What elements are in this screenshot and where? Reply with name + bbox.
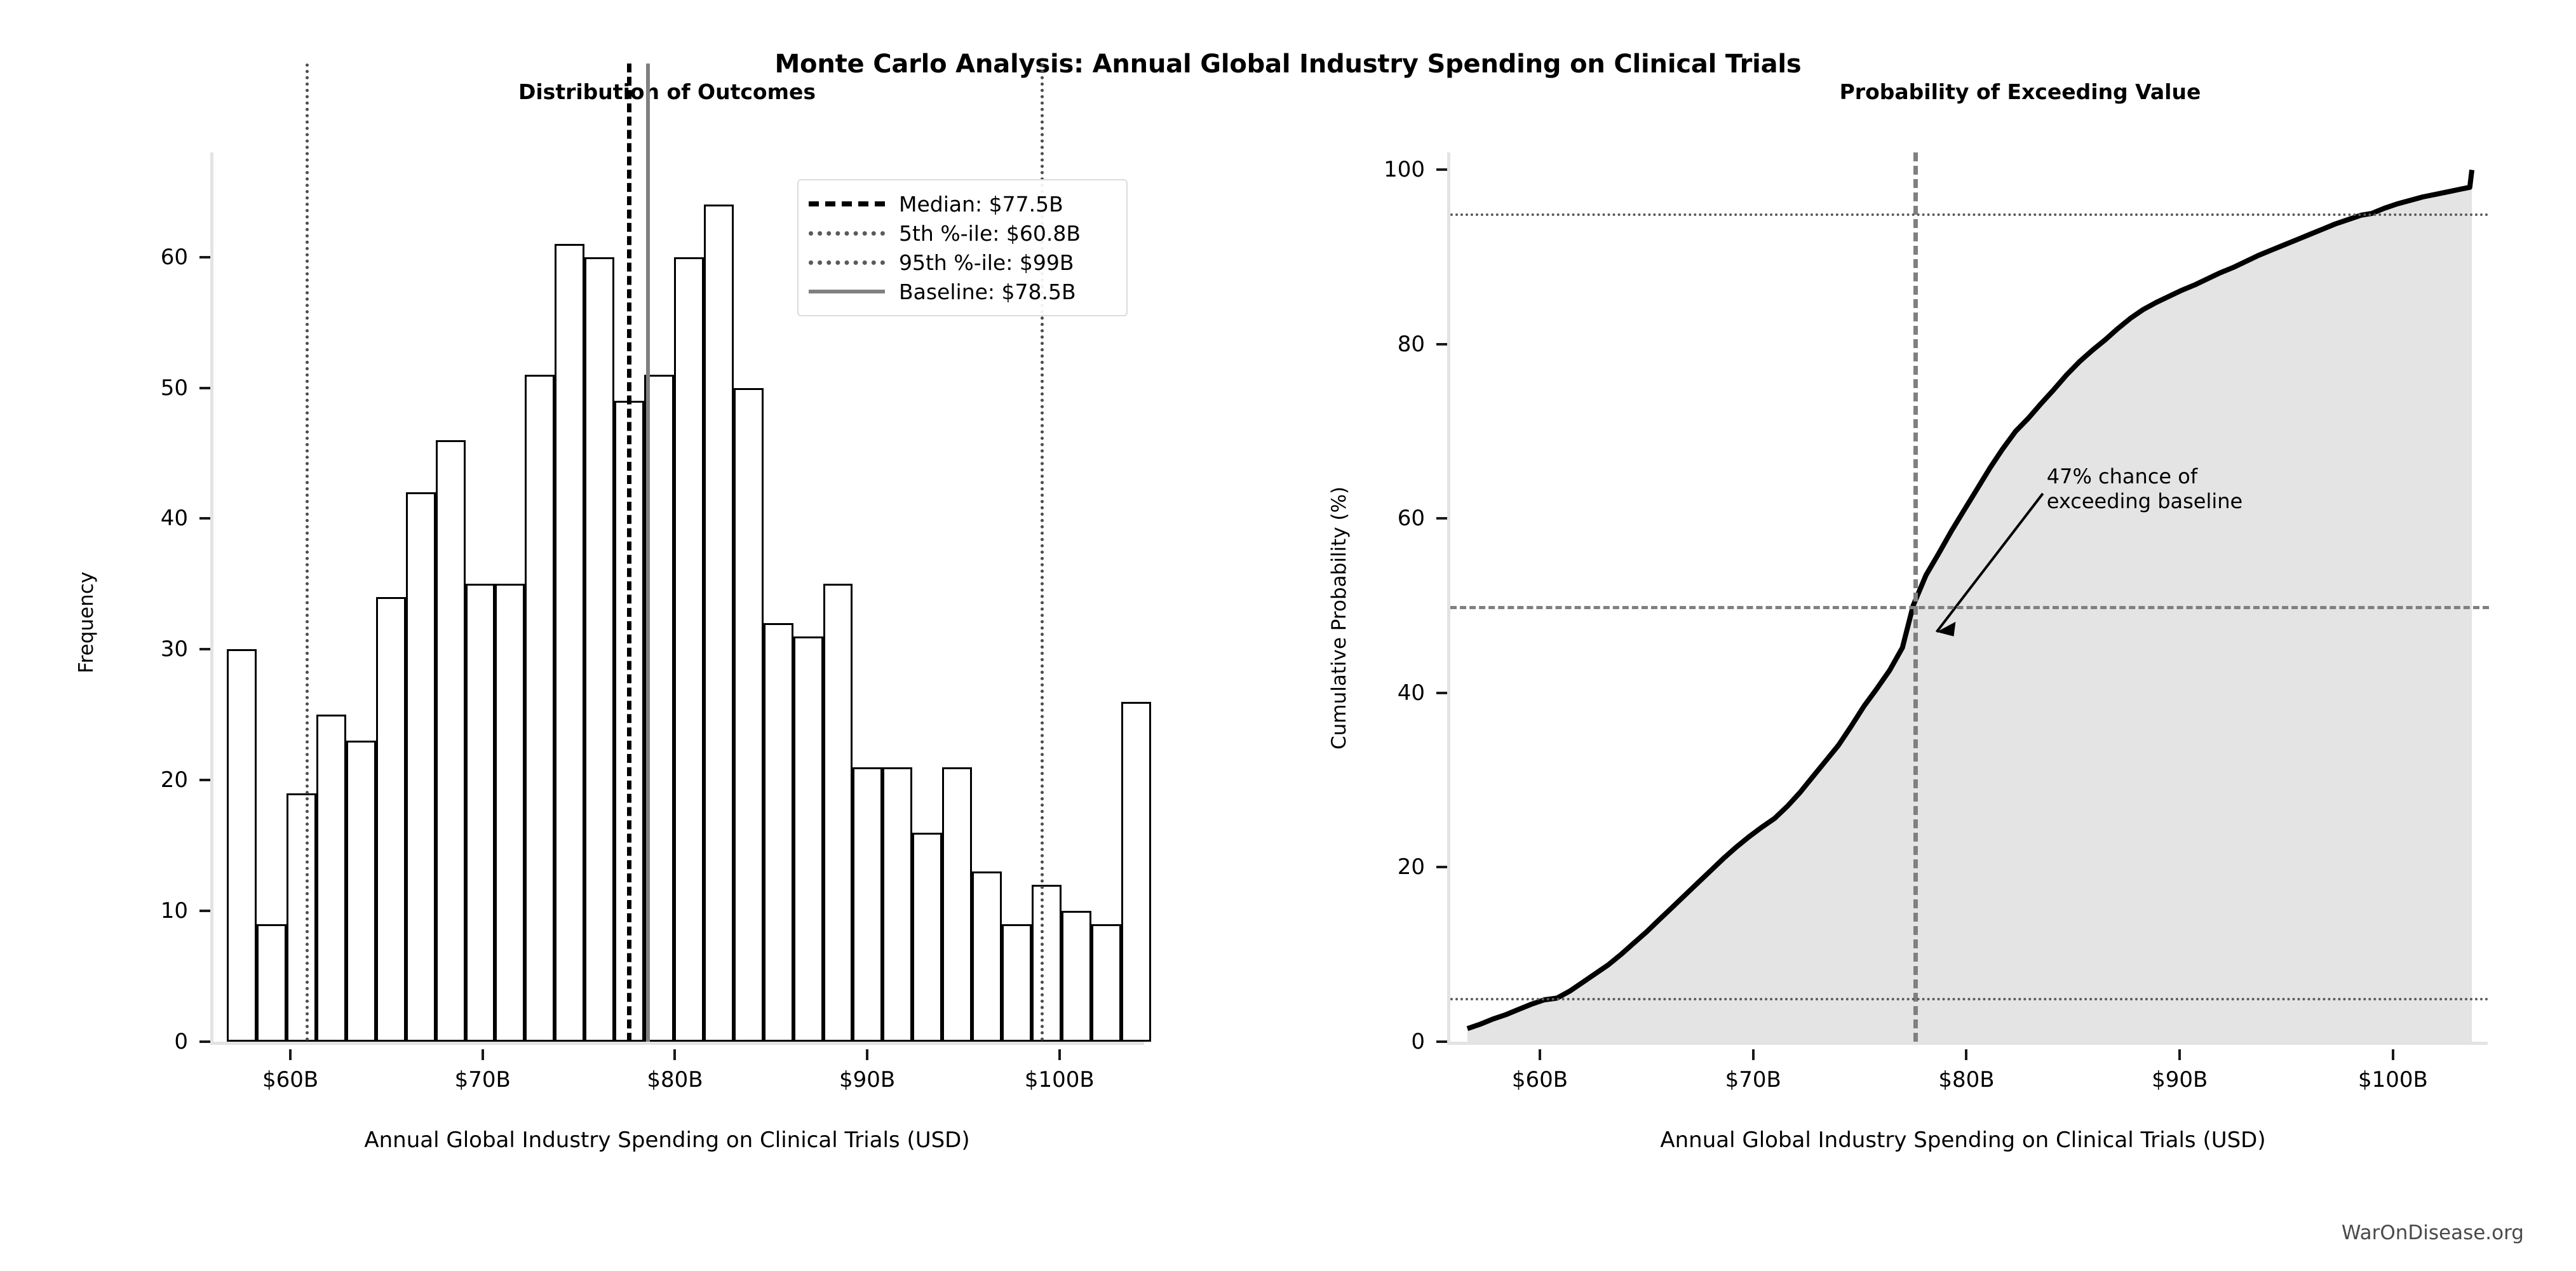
cdf-annotation: 47% chance ofexceeding baseline [2047,464,2242,514]
histogram-bar [346,741,376,1042]
histogram-bar [942,767,972,1042]
legend-item[interactable]: 95th %-ile: $99B [809,248,1114,277]
cdf-refline-95-horizontal [1450,213,2489,216]
histogram-bar [674,257,704,1042]
histogram-bar [436,440,466,1042]
histogram-bar [287,793,316,1042]
cdf-y-tick-mark [1436,343,1447,346]
figure-canvas: Monte Carlo Analysis: Annual Global Indu… [0,0,2576,1271]
histogram-y-tick-mark [199,387,210,389]
histogram-y-axis-line [210,152,213,1044]
histogram-y-tick-mark [199,910,210,912]
histogram-refline-median [627,64,631,1042]
histogram-bar [1032,885,1062,1042]
legend-label: 5th %-ile: $60.8B [899,221,1081,246]
histogram-panel: Distribution of Outcomes 0102030405060$6… [0,0,1207,1271]
cdf-refline-median-vertical [1913,152,1918,1042]
histogram-legend: Median: $77.5B5th %-ile: $60.8B95th %-il… [797,179,1128,316]
histogram-x-tick-mark [673,1049,676,1060]
histogram-bar [525,375,555,1042]
histogram-y-tick-mark [199,517,210,520]
histogram-bar [704,205,734,1042]
histogram-y-tick-label: 10 [86,898,188,924]
histogram-bar [466,584,496,1042]
histogram-bar [1091,924,1121,1042]
histogram-bar [1002,924,1032,1042]
histogram-bar [406,492,436,1042]
cdf-y-tick-mark [1436,1040,1447,1043]
histogram-bar [257,924,287,1042]
histogram-x-tick-label: $100B [977,1067,1142,1093]
cdf-refline-50-horizontal [1450,606,2489,609]
cdf-y-tick-label: 20 [1317,854,1425,880]
cdf-x-tick-label: $80B [1884,1067,2049,1093]
cdf-x-tick-label: $60B [1457,1067,1622,1093]
legend-item[interactable]: 5th %-ile: $60.8B [809,219,1114,248]
histogram-y-tick-label: 60 [86,245,188,270]
histogram-refline-5th-percentile [306,64,309,1042]
histogram-bar [764,623,793,1042]
cdf-x-tick-label: $100B [2310,1067,2476,1093]
cdf-y-tick-label: 0 [1317,1029,1425,1054]
legend-key-dashed-icon [809,201,885,206]
cdf-annotation-line2: exceeding baseline [2047,489,2242,514]
histogram-y-tick-mark [199,648,210,650]
histogram-y-tick-label: 40 [86,506,188,531]
cdf-x-tick-mark [2178,1049,2181,1060]
cdf-y-tick-label: 100 [1317,157,1425,182]
cdf-y-tick-mark [1436,692,1447,694]
histogram-x-tick-mark [482,1049,484,1060]
legend-label: Median: $77.5B [899,192,1063,217]
histogram-bar [555,244,584,1042]
cdf-refline-5-horizontal [1450,998,2489,1000]
legend-item[interactable]: Median: $77.5B [809,189,1114,219]
cdf-x-tick-mark [2392,1049,2394,1060]
histogram-x-axis-label: Annual Global Industry Spending on Clini… [178,1127,1156,1153]
legend-item[interactable]: Baseline: $78.5B [809,277,1114,306]
cdf-panel: Probability of Exceeding Value 020406080… [1290,0,2576,1271]
legend-key-solid-icon [809,290,885,293]
histogram-bar [316,715,346,1042]
cdf-y-axis-label: Cumulative Probability (%) [1328,487,1351,750]
histogram-refline-baseline [646,64,650,1042]
histogram-bar [734,388,764,1042]
histogram-bar [1121,702,1151,1042]
cdf-x-tick-mark [1752,1049,1755,1060]
cdf-x-tick-mark [1965,1049,1967,1060]
histogram-x-axis-line [210,1042,1144,1045]
histogram-x-tick-mark [866,1049,868,1060]
histogram-y-tick-mark [199,779,210,781]
cdf-x-tick-mark [1539,1049,1541,1060]
cdf-y-tick-label: 80 [1317,332,1425,357]
histogram-x-tick-label: $80B [592,1067,757,1093]
histogram-bar [793,636,823,1042]
histogram-x-tick-label: $90B [785,1067,950,1093]
histogram-y-tick-label: 30 [86,636,188,662]
cdf-plot-area: 020406080100$60B$70B$80B$90B$100B47% cha… [1290,0,2576,1271]
histogram-plot-area: 0102030405060$60B$70B$80B$90B$100BMedian… [0,0,1207,1271]
histogram-bar [495,584,525,1042]
histogram-bar [912,833,942,1042]
cdf-x-axis-label: Annual Global Industry Spending on Clini… [1417,1127,2509,1153]
cdf-y-tick-mark [1436,168,1447,171]
legend-key-dotted-icon [809,260,885,265]
cdf-y-tick-mark [1436,517,1447,520]
histogram-x-tick-label: $60B [208,1067,373,1093]
legend-key-dotted-icon [809,231,885,236]
histogram-bar [376,597,406,1042]
cdf-y-tick-mark [1436,866,1447,868]
cdf-annotation-line1: 47% chance of [2047,464,2242,489]
histogram-y-tick-label: 20 [86,767,188,793]
histogram-y-axis-label: Frequency [75,572,98,673]
histogram-bar [853,767,882,1042]
cdf-x-tick-label: $70B [1671,1067,1836,1093]
histogram-bar [972,871,1002,1042]
histogram-y-tick-label: 0 [86,1029,188,1054]
histogram-bar [584,257,614,1042]
histogram-x-tick-label: $70B [400,1067,565,1093]
histogram-y-tick-label: 50 [86,375,188,401]
histogram-x-tick-mark [1058,1049,1061,1060]
histogram-bar [882,767,912,1042]
histogram-bar [823,584,853,1042]
histogram-bar [1062,911,1091,1042]
legend-label: 95th %-ile: $99B [899,250,1074,275]
histogram-y-tick-mark [199,256,210,259]
cdf-x-tick-label: $90B [2097,1067,2262,1093]
legend-label: Baseline: $78.5B [899,279,1076,304]
histogram-y-tick-mark [199,1040,210,1043]
histogram-bar [227,649,257,1042]
footer-watermark: WarOnDisease.org [2342,1221,2524,1244]
histogram-x-tick-mark [289,1049,292,1060]
